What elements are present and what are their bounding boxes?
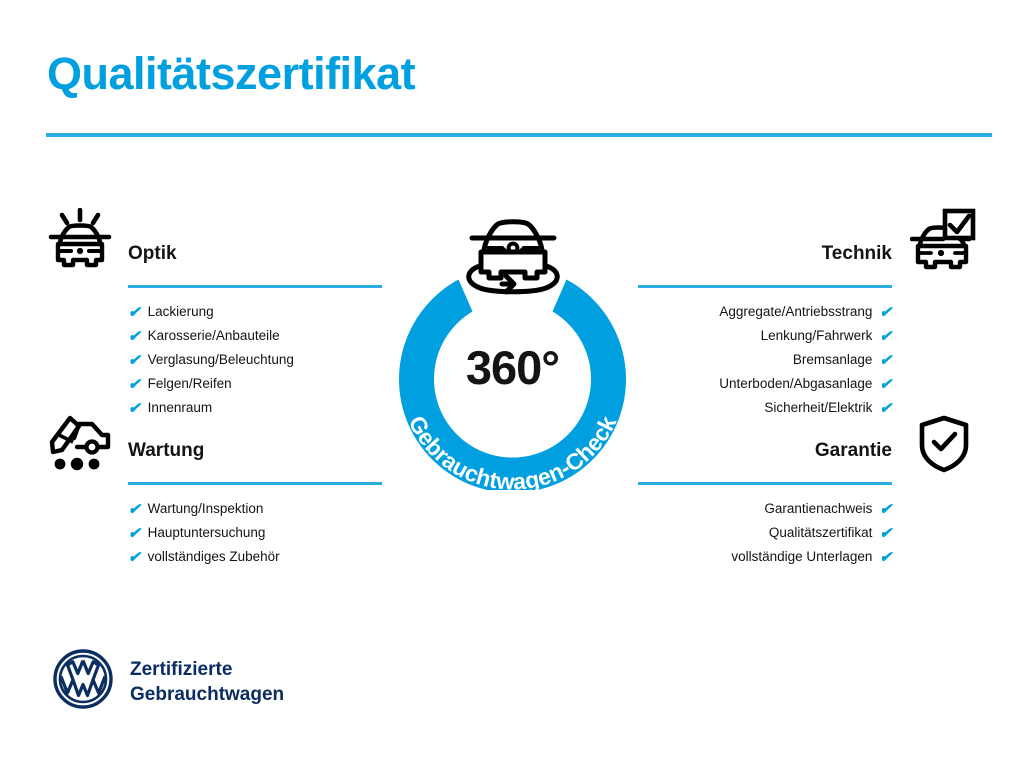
list-item-label: Felgen/Reifen xyxy=(148,372,232,396)
check-icon: ✔ xyxy=(879,401,892,416)
list-item-label: vollständiges Zubehör xyxy=(148,545,280,569)
list-item: ✔Felgen/Reifen xyxy=(128,372,382,396)
check-icon: ✔ xyxy=(879,502,892,517)
section-list: Garantienachweis✔Qualitätszertifikat✔vol… xyxy=(638,497,892,569)
section-divider xyxy=(638,482,892,485)
car-shine-icon xyxy=(46,208,114,277)
check-icon: ✔ xyxy=(128,401,141,416)
section-header: Technik xyxy=(638,240,892,288)
list-item-label: Innenraum xyxy=(148,396,213,420)
check-icon: ✔ xyxy=(879,329,892,344)
section-title: Technik xyxy=(638,240,892,268)
list-item: ✔vollständiges Zubehör xyxy=(128,545,382,569)
car-rotate-360-icon xyxy=(458,200,568,305)
list-item-label: Garantienachweis xyxy=(764,497,872,521)
list-item: ✔Lackierung xyxy=(128,300,382,324)
section-list: Aggregate/Antriebsstrang✔Lenkung/Fahrwer… xyxy=(638,300,892,420)
section-header: Optik xyxy=(128,240,382,288)
list-item: Bremsanlage✔ xyxy=(638,348,892,372)
check-icon: ✔ xyxy=(879,353,892,368)
list-item-label: Unterboden/Abgasanlage xyxy=(719,372,872,396)
list-item-label: Wartung/Inspektion xyxy=(148,497,264,521)
page-title: Qualitätszertifikat xyxy=(47,49,415,99)
list-item: ✔Karosserie/Anbauteile xyxy=(128,324,382,348)
section-header: Wartung xyxy=(128,437,382,485)
badge-value: 360° xyxy=(375,340,650,395)
section-technik: Technik Aggregate/Antriebsstrang✔Lenkung… xyxy=(638,240,892,420)
list-item: Garantienachweis✔ xyxy=(638,497,892,521)
check-icon: ✔ xyxy=(879,550,892,565)
check-icon: ✔ xyxy=(128,526,141,541)
car-service-record-icon xyxy=(46,412,114,477)
check-icon: ✔ xyxy=(128,305,141,320)
list-item: Aggregate/Antriebsstrang✔ xyxy=(638,300,892,324)
shield-check-icon xyxy=(918,415,970,478)
check-icon: ✔ xyxy=(128,550,141,565)
list-item-label: Hauptuntersuchung xyxy=(148,521,266,545)
car-checkbox-icon xyxy=(910,208,976,277)
list-item: ✔Verglasung/Beleuchtung xyxy=(128,348,382,372)
list-item-label: Bremsanlage xyxy=(793,348,873,372)
list-item-label: Karosserie/Anbauteile xyxy=(148,324,280,348)
check-icon: ✔ xyxy=(128,377,141,392)
check-icon: ✔ xyxy=(879,305,892,320)
section-header: Garantie xyxy=(638,437,892,485)
brand-lockup: Zertifizierte Gebrauchtwagen xyxy=(52,648,284,715)
check-icon: ✔ xyxy=(879,377,892,392)
list-item: Qualitätszertifikat✔ xyxy=(638,521,892,545)
list-item-label: Sicherheit/Elektrik xyxy=(764,396,872,420)
section-optik: Optik ✔Lackierung✔Karosserie/Anbauteile✔… xyxy=(128,240,382,420)
list-item: ✔Innenraum xyxy=(128,396,382,420)
section-title: Optik xyxy=(128,240,382,268)
list-item: Unterboden/Abgasanlage✔ xyxy=(638,372,892,396)
title-divider xyxy=(46,133,992,137)
check-icon: ✔ xyxy=(128,329,141,344)
list-item: Lenkung/Fahrwerk✔ xyxy=(638,324,892,348)
list-item-label: Verglasung/Beleuchtung xyxy=(148,348,294,372)
list-item: vollständige Unterlagen✔ xyxy=(638,545,892,569)
section-list: ✔Wartung/Inspektion✔Hauptuntersuchung✔vo… xyxy=(128,497,382,569)
check-icon: ✔ xyxy=(879,526,892,541)
list-item-label: Aggregate/Antriebsstrang xyxy=(719,300,872,324)
section-title: Wartung xyxy=(128,437,382,465)
section-divider xyxy=(128,482,382,485)
list-item: ✔Hauptuntersuchung xyxy=(128,521,382,545)
volkswagen-logo-icon xyxy=(52,648,114,715)
section-garantie: Garantie Garantienachweis✔Qualitätszerti… xyxy=(638,437,892,569)
brand-text: Zertifizierte Gebrauchtwagen xyxy=(130,657,284,707)
check-icon: ✔ xyxy=(128,502,141,517)
list-item: Sicherheit/Elektrik✔ xyxy=(638,396,892,420)
section-divider xyxy=(638,285,892,288)
list-item-label: Lackierung xyxy=(148,300,214,324)
list-item: ✔Wartung/Inspektion xyxy=(128,497,382,521)
section-wartung: Wartung ✔Wartung/Inspektion✔Hauptuntersu… xyxy=(128,437,382,569)
section-title: Garantie xyxy=(638,437,892,465)
list-item-label: Lenkung/Fahrwerk xyxy=(761,324,873,348)
list-item-label: vollständige Unterlagen xyxy=(731,545,872,569)
list-item-label: Qualitätszertifikat xyxy=(769,521,873,545)
360-check-badge: Gebrauchtwagen-Check 360° xyxy=(375,200,650,490)
section-list: ✔Lackierung✔Karosserie/Anbauteile✔Vergla… xyxy=(128,300,382,420)
section-divider xyxy=(128,285,382,288)
check-icon: ✔ xyxy=(128,353,141,368)
